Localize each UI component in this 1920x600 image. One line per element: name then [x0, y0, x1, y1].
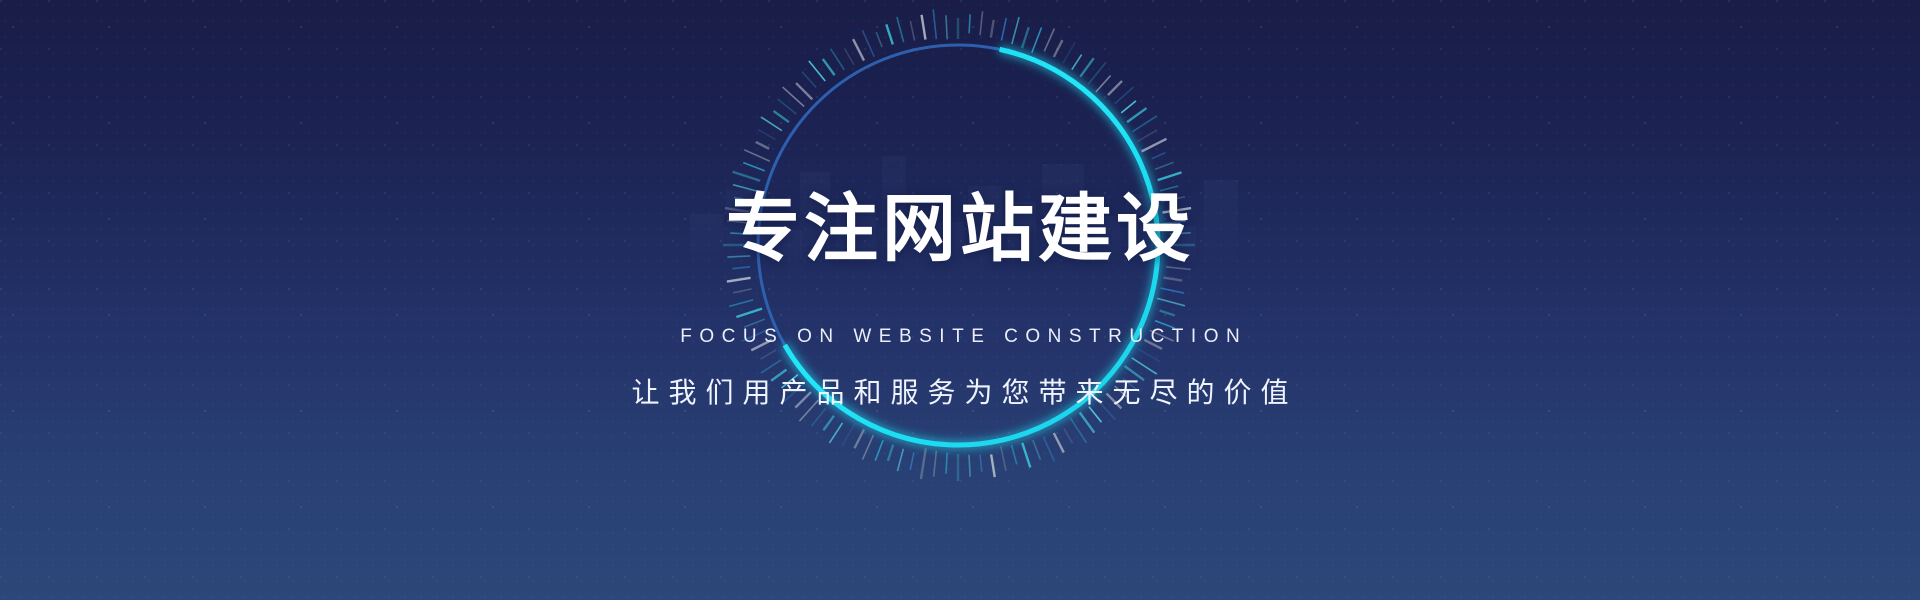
- tick-mark: [1123, 378, 1140, 392]
- tick-mark: [876, 32, 882, 47]
- tick-mark: [1115, 386, 1127, 397]
- tick-mark: [1106, 393, 1121, 408]
- radial-tick-marks: [723, 9, 1195, 481]
- tick-mark: [1033, 440, 1041, 460]
- tick-mark: [854, 429, 864, 448]
- tick-mark: [1044, 28, 1054, 51]
- tick-mark: [774, 111, 789, 122]
- tick-mark: [875, 440, 883, 461]
- tick-mark: [761, 360, 781, 373]
- tick-mark: [969, 455, 970, 477]
- tick-mark: [799, 400, 818, 421]
- hero-banner: 专注网站建设 FOCUS ON WEBSITE CONSTRUCTION 让我们…: [0, 0, 1920, 600]
- tick-mark: [742, 330, 768, 341]
- tick-mark: [980, 455, 982, 472]
- tick-mark: [991, 20, 994, 38]
- ring-svg: [0, 0, 1920, 600]
- tick-mark: [771, 370, 786, 381]
- tick-mark: [1108, 81, 1122, 95]
- tick-mark: [1166, 267, 1191, 270]
- skyline-bar: [836, 208, 876, 260]
- tick-mark: [823, 59, 835, 75]
- skyline-bar: [1042, 164, 1084, 260]
- tick-mark: [1012, 17, 1019, 44]
- tick-mark: [727, 221, 747, 223]
- skyline-silhouette: [0, 120, 1920, 260]
- tick-mark: [831, 49, 845, 70]
- tick-mark: [1150, 330, 1174, 341]
- skyline-bar: [758, 230, 802, 260]
- tick-mark: [946, 15, 947, 39]
- tick-mark: [862, 30, 874, 56]
- tick-mark: [946, 453, 947, 474]
- tick-mark: [886, 24, 892, 44]
- tick-mark: [1144, 340, 1162, 349]
- tick-mark: [1138, 349, 1160, 362]
- tick-mark: [1170, 233, 1191, 234]
- tick-mark: [1022, 27, 1029, 48]
- tick-mark: [782, 375, 798, 388]
- tick-mark: [733, 172, 761, 181]
- tick-mark: [1089, 407, 1102, 423]
- tick-mark: [1158, 172, 1182, 180]
- tick-mark: [736, 309, 762, 317]
- tick-mark: [1160, 288, 1183, 293]
- tick-mark: [1157, 298, 1185, 306]
- tick-mark: [922, 15, 926, 40]
- tick-mark: [1155, 321, 1175, 329]
- tick-mark: [1070, 418, 1086, 443]
- tick-mark: [733, 185, 756, 191]
- skyline-bar: [1126, 194, 1164, 260]
- tick-mark: [743, 163, 764, 171]
- banner-title: 专注网站建设: [0, 192, 1920, 266]
- tick-mark: [1121, 101, 1136, 113]
- tick-mark: [897, 17, 904, 42]
- tick-mark: [910, 452, 914, 470]
- tick-mark: [1142, 139, 1167, 152]
- tick-mark: [783, 87, 805, 106]
- tick-mark: [1063, 42, 1075, 63]
- tick-mark: [778, 99, 797, 114]
- tick-mark: [1127, 108, 1146, 122]
- tick-mark: [725, 208, 750, 212]
- tick-mark: [729, 300, 753, 306]
- dot-grid-pattern-secondary: [0, 0, 1920, 600]
- tick-mark: [1161, 197, 1184, 202]
- tick-mark: [1043, 437, 1054, 462]
- tick-mark: [1001, 18, 1006, 41]
- tick-mark: [1012, 445, 1017, 464]
- tick-mark: [758, 130, 775, 140]
- tick-mark: [1152, 153, 1166, 159]
- tick-mark: [1168, 256, 1188, 257]
- tick-mark: [1160, 186, 1178, 191]
- dot-grid-pattern: [0, 0, 1920, 600]
- tick-mark: [761, 350, 777, 359]
- tick-mark: [809, 61, 825, 81]
- tick-mark: [727, 256, 750, 257]
- tick-mark: [842, 423, 855, 446]
- tick-mark: [897, 449, 903, 471]
- tick-mark: [1137, 130, 1157, 142]
- tick-mark: [756, 142, 769, 149]
- tick-mark: [1163, 278, 1182, 281]
- tick-mark: [933, 9, 936, 39]
- tick-mark: [845, 48, 855, 64]
- tick-mark: [811, 408, 825, 426]
- tick-mark: [1125, 366, 1144, 380]
- tick-mark: [1160, 311, 1175, 316]
- ring-base-circle: [758, 45, 1158, 445]
- tick-mark: [829, 423, 842, 443]
- tick-mark: [910, 21, 914, 41]
- tick-mark: [1054, 40, 1063, 57]
- tick-mark: [727, 278, 751, 282]
- tick-mark: [1132, 116, 1156, 132]
- tick-mark: [796, 83, 812, 99]
- tick-mark: [751, 340, 771, 350]
- skyline-bar: [726, 190, 752, 260]
- skyline-bar: [690, 214, 724, 260]
- tick-mark: [733, 289, 752, 293]
- tick-mark: [761, 117, 782, 131]
- ring-accent-arc: [785, 49, 1158, 445]
- tick-mark: [1098, 400, 1115, 419]
- tick-mark: [1080, 412, 1095, 432]
- tick-mark: [991, 454, 995, 477]
- tick-mark: [921, 448, 926, 479]
- tick-mark: [730, 233, 752, 234]
- tick-mark: [934, 451, 937, 477]
- banner-tagline: 让我们用产品和服务为您带来无尽的价值: [0, 379, 1920, 407]
- tick-mark: [1162, 208, 1191, 213]
- tick-mark: [1132, 358, 1157, 374]
- ring-graphic: [0, 0, 1920, 600]
- tick-mark: [888, 445, 893, 461]
- tick-mark: [744, 150, 770, 161]
- tick-mark: [802, 72, 816, 88]
- tick-mark: [1080, 58, 1094, 77]
- skyline-bar: [1008, 202, 1036, 260]
- skyline-bar: [882, 156, 906, 260]
- tick-mark: [853, 39, 864, 60]
- banner-subtitle: FOCUS ON WEBSITE CONSTRUCTION: [0, 327, 1920, 346]
- tick-mark: [862, 435, 873, 460]
- tick-mark: [1155, 162, 1174, 169]
- tick-mark: [1163, 221, 1186, 223]
- tick-mark: [1001, 447, 1006, 471]
- tick-mark: [734, 197, 753, 201]
- tick-mark: [1115, 87, 1134, 104]
- tick-mark: [1064, 429, 1073, 444]
- tick-mark: [980, 11, 983, 35]
- skyline-bar: [912, 222, 964, 260]
- tick-mark: [1096, 76, 1111, 92]
- tick-mark: [1088, 62, 1106, 84]
- tick-mark: [1072, 55, 1082, 70]
- tick-mark: [784, 384, 804, 402]
- tick-mark: [1054, 433, 1064, 453]
- tick-mark: [1022, 443, 1030, 468]
- skyline-bar: [1204, 180, 1238, 260]
- tick-mark: [823, 416, 834, 431]
- skyline-bar: [800, 172, 830, 260]
- skyline-bar: [1170, 226, 1196, 260]
- tick-mark: [744, 319, 765, 327]
- tick-mark: [732, 267, 750, 269]
- tick-mark: [1032, 27, 1042, 52]
- skyline-bar: [968, 186, 1002, 260]
- skyline-bar: [1090, 216, 1120, 260]
- tick-mark: [969, 14, 970, 33]
- tick-mark: [795, 392, 811, 408]
